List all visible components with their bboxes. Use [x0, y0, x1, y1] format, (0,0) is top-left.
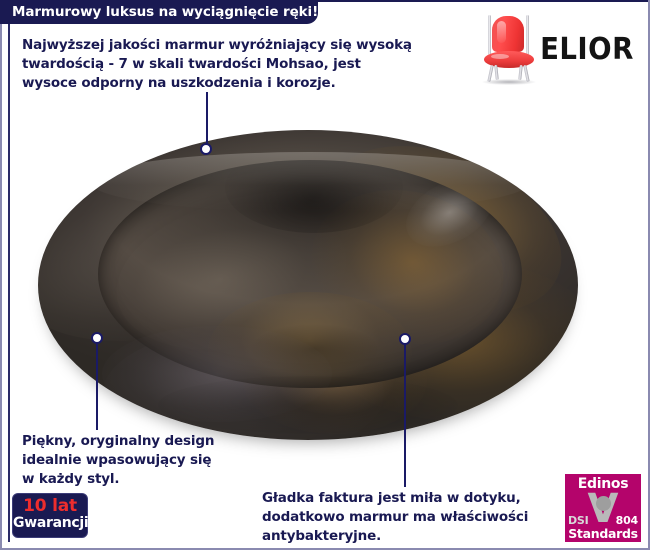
- callout-text-bottom-center: Gładka faktura jest miła w dotyku, dodat…: [262, 489, 562, 546]
- warranty-label: Gwarancji: [13, 515, 87, 532]
- callout-bc-line-1: Gładka faktura jest miła w dotyku,: [262, 489, 562, 508]
- bowl-highlight: [395, 164, 505, 260]
- drain-shadow: [251, 324, 378, 374]
- callout-dot-top: [200, 143, 212, 155]
- chair-post-right: [526, 15, 529, 55]
- chair-shadow: [482, 79, 536, 85]
- marble-basin-bowl: [98, 160, 522, 388]
- marble-vein: [208, 292, 412, 388]
- headline-text: Marmurowy luksus na wyciągnięcie ręki!: [12, 4, 318, 20]
- marble-vein: [103, 183, 360, 370]
- product-infographic: Marmurowy luksus na wyciągnięcie ręki! E…: [0, 0, 650, 550]
- headline-banner: Marmurowy luksus na wyciągnięcie ręki!: [0, 0, 318, 24]
- callout-line-bottom-center: [404, 345, 406, 487]
- callout-bc-line-3: antybakteryjne.: [262, 527, 562, 546]
- callout-top-line-2: twardością - 7 w skali twardości Mohsao,…: [22, 55, 462, 74]
- callout-text-top: Najwyższej jakości marmur wyróżniający s…: [22, 36, 462, 93]
- callout-text-bottom-left: Piękny, oryginalny design idealnie wpaso…: [22, 432, 272, 489]
- callout-line-bottom-left: [96, 344, 98, 430]
- callout-dot-bottom-center: [399, 333, 411, 345]
- callout-bl-line-2: idealnie wpasowujący się: [22, 451, 272, 470]
- edinos-standards-badge: Edinos V DSI 804 Standards: [565, 474, 641, 542]
- chair-leg: [518, 65, 522, 80]
- callout-line-top: [206, 92, 208, 146]
- frame-left-border: [0, 0, 2, 550]
- callout-bc-line-2: dodatkowo marmur ma właściwości: [262, 508, 562, 527]
- callout-top-line-1: Najwyższej jakości marmur wyróżniający s…: [22, 36, 462, 55]
- chair-post-left: [488, 15, 491, 55]
- red-chair-icon: [478, 13, 530, 85]
- callout-bl-line-1: Piękny, oryginalny design: [22, 432, 272, 451]
- edinos-dot-icon: [596, 496, 611, 511]
- callout-bl-line-3: w każdy styl.: [22, 470, 272, 489]
- warranty-badge: 10 lat Gwarancji: [12, 493, 88, 538]
- brand-name: ELIOR: [540, 32, 634, 67]
- callout-dot-bottom-left: [91, 332, 103, 344]
- bowl-shadow: [225, 160, 403, 233]
- marble-basin-outer: [38, 130, 578, 440]
- product-photo: [10, 96, 606, 456]
- chair-backrest: [492, 16, 524, 52]
- brand-logo: ELIOR: [478, 8, 638, 90]
- warranty-years: 10 lat: [13, 497, 87, 515]
- edinos-standards-label: Standards: [565, 526, 641, 541]
- callout-top-line-3: wysoce odporny na uszkodzenia i korozje.: [22, 74, 462, 93]
